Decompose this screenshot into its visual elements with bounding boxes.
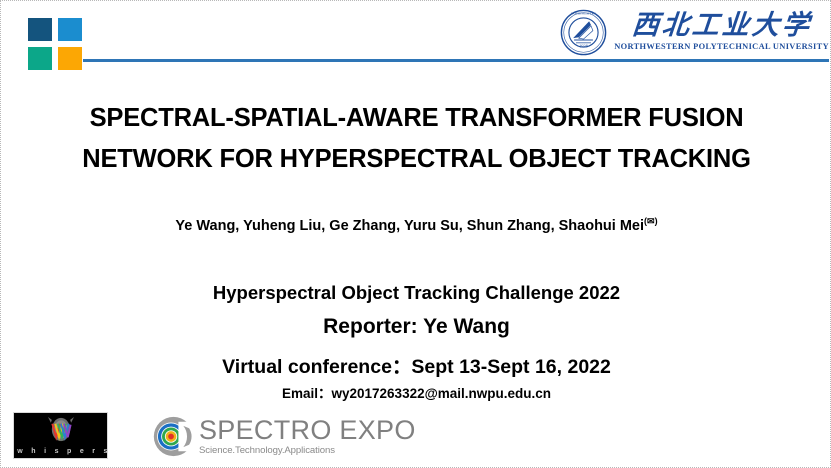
square-top-left — [28, 18, 52, 41]
square-bottom-right — [58, 47, 82, 70]
author-names: Ye Wang, Yuheng Liu, Ge Zhang, Yuru Su, … — [175, 218, 644, 234]
page-title: SPECTRAL-SPATIAL-AWARE TRANSFORMER FUSIO… — [1, 98, 831, 180]
whispers-logo: w h i s p e r s — [13, 412, 108, 459]
university-name-en: NORTHWESTERN POLYTECHNICAL UNIVERSITY — [614, 43, 829, 51]
title-line-1: SPECTRAL-SPATIAL-AWARE TRANSFORMER FUSIO… — [1, 98, 831, 139]
square-bottom-left — [28, 47, 52, 70]
author-list: Ye Wang, Yuheng Liu, Ge Zhang, Yuru Su, … — [1, 216, 831, 234]
contact-email: Email：wy2017263322@mail.nwpu.edu.cn — [1, 382, 831, 402]
spectro-rings-icon — [153, 416, 194, 457]
slide-header: 1938 NORTHWESTERN 西北工业大学 NORTHWESTERN PO… — [1, 1, 831, 71]
corresponding-author-mark: (✉) — [644, 216, 658, 226]
university-logo: 1938 NORTHWESTERN 西北工业大学 NORTHWESTERN PO… — [560, 6, 829, 58]
whispers-owl-icon — [41, 416, 81, 443]
university-name-block: 西北工业大学 NORTHWESTERN POLYTECHNICAL UNIVER… — [614, 12, 829, 51]
svg-text:NORTHWESTERN: NORTHWESTERN — [571, 11, 596, 15]
title-line-2: NETWORK FOR HYPERSPECTRAL OBJECT TRACKIN… — [1, 139, 831, 180]
header-divider-rule — [83, 59, 829, 62]
reporter-name: Reporter: Ye Wang — [1, 315, 831, 339]
spectro-expo-logo: SPECTRO EXPO Science.Technology.Applicat… — [153, 413, 416, 459]
spectro-expo-tagline: Science.Technology.Applications — [199, 446, 416, 456]
presentation-slide: 1938 NORTHWESTERN 西北工业大学 NORTHWESTERN PO… — [0, 0, 831, 468]
brand-squares-logo — [28, 18, 84, 70]
whispers-wordmark: w h i s p e r s — [14, 448, 107, 455]
spectro-text-block: SPECTRO EXPO Science.Technology.Applicat… — [199, 417, 416, 456]
nwpu-seal-icon: 1938 NORTHWESTERN — [560, 9, 607, 56]
spectro-expo-name: SPECTRO EXPO — [199, 417, 416, 444]
challenge-name: Hyperspectral Object Tracking Challenge … — [1, 282, 831, 304]
square-top-right — [58, 18, 82, 41]
university-name-cn: 西北工业大学 — [630, 12, 812, 39]
svg-text:1938: 1938 — [579, 43, 587, 48]
conference-dates: Virtual conference：Sept 13-Sept 16, 2022 — [1, 350, 831, 379]
